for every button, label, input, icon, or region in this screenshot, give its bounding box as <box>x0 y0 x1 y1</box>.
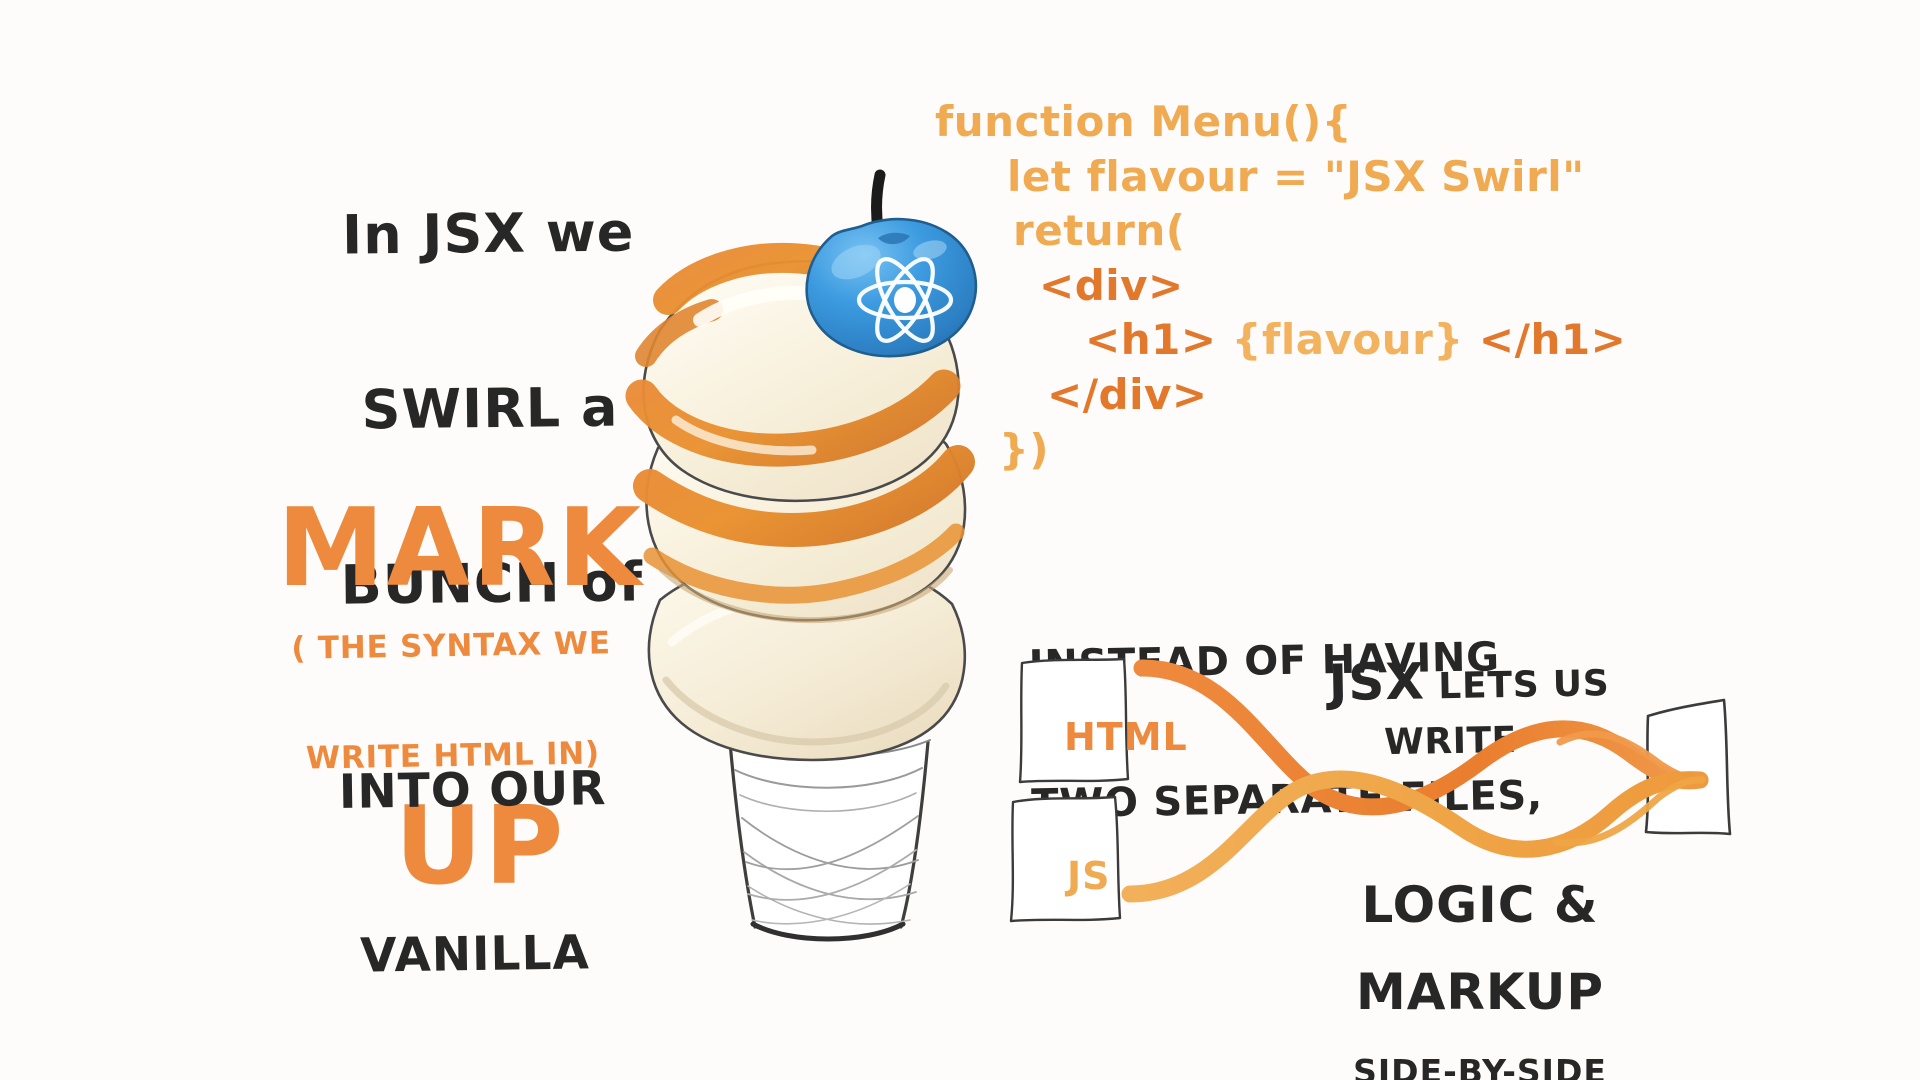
html-card-label: HTML <box>1064 715 1188 759</box>
code-line-6: </div> <box>1047 368 1626 423</box>
cherry-stem <box>876 175 894 284</box>
code-line-4: <div> <box>1039 259 1626 314</box>
logic-line-3: SIDE-BY-SIDE <box>1340 1055 1620 1080</box>
code-h1-open: <h1> <box>1085 315 1232 364</box>
code-flavour-expression: {flavour} <box>1232 315 1464 364</box>
logic-and-markup-text: LOGIC & MARKUP SIDE-BY-SIDE <box>1340 845 1620 1080</box>
html-file-card: HTML <box>1012 655 1132 777</box>
logic-line-2: MARKUP <box>1340 966 1620 1019</box>
jsx-lets-us-write-text: JSX LETS US WRITE <box>1304 637 1597 795</box>
code-line-3: return( <box>1013 204 1626 259</box>
code-h1-close: </h1> <box>1464 315 1626 364</box>
vanilla-line-2: VANILLA <box>265 925 686 985</box>
jsx-code-snippet: function Menu(){ let flavour = "JSX Swir… <box>935 95 1626 477</box>
cone-cup <box>727 740 930 939</box>
vanilla-line-1: INTO OUR <box>262 761 683 821</box>
code-line-5: <h1> {flavour} </h1> <box>1085 313 1626 368</box>
headline-line-1: In JSX we <box>278 202 699 265</box>
js-card-label: JS <box>1067 854 1111 898</box>
sketchnote-canvas: In JSX we SWIRL a BUNCH of MARK UP ( THE… <box>0 0 1920 1080</box>
jsx-word: JSX <box>1328 653 1425 713</box>
write-word: WRITE <box>1305 721 1596 763</box>
code-line-2: let flavour = "JSX Swirl" <box>1007 150 1626 205</box>
code-line-1: function Menu(){ <box>935 95 1626 150</box>
vanilla-js-text: INTO OUR VANILLA JS ICE CREAM <box>261 652 689 1080</box>
lets-us-word: LETS US <box>1425 664 1610 708</box>
output-card-outline <box>1640 698 1740 838</box>
output-file-card <box>1640 698 1730 830</box>
logic-line-1: LOGIC & <box>1340 879 1620 932</box>
js-file-card: JS <box>1005 792 1125 914</box>
code-line-7: }) <box>999 423 1626 478</box>
